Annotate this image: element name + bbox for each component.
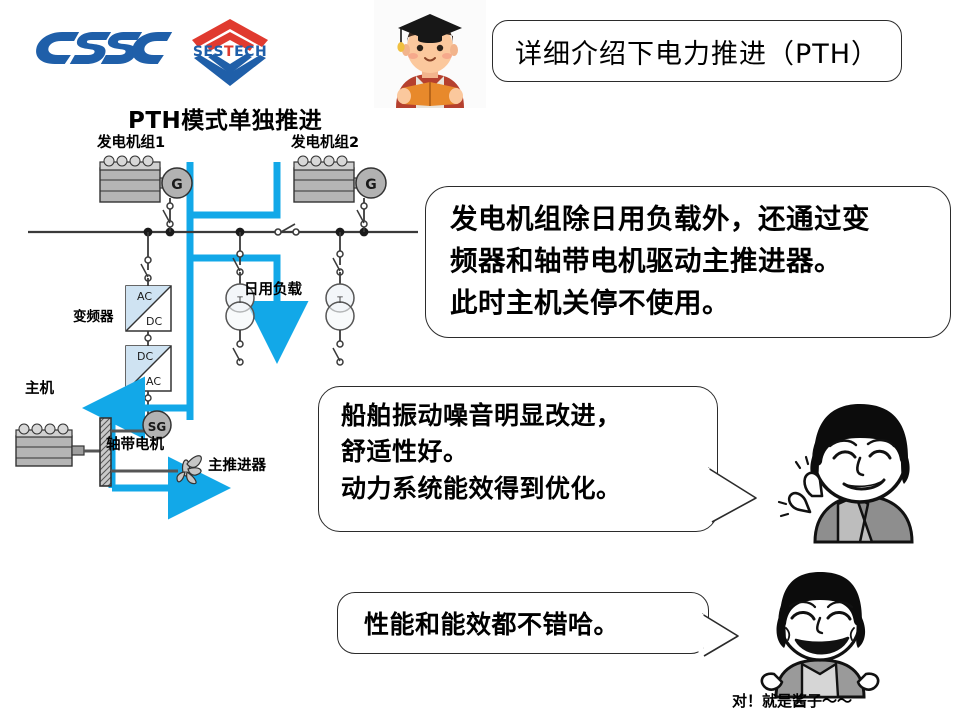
label-genset-2: 发电机组2 [291,136,359,152]
cssc-logo [34,24,169,72]
benefit-line-1: 船舶振动噪音明显改进， [341,398,699,434]
svg-text:DC: DC [146,315,162,328]
label-shaft-motor: 轴带电机 [106,438,164,454]
benefit-speech-bubble: 船舶振动噪音明显改进， 舒适性好。 动力系统能效得到优化。 [318,386,718,532]
meme-caption: 对！就是酱子～～ [732,690,882,711]
svg-text:AC: AC [146,375,161,388]
description-callout-box: 发电机组除日用负载外，还通过变 频器和轴带电机驱动主推进器。 此时主机关停不使用… [425,186,951,338]
agreement-speech-bubble: 性能和能效都不错哈。 [337,592,709,654]
genset-1: G [100,156,192,232]
description-line-1: 发电机组除日用负载外，还通过变 [450,199,930,241]
svg-text:SG: SG [148,420,167,434]
benefit-line-3: 动力系统能效得到优化。 [341,471,699,507]
genset-2: G [294,156,386,232]
meme-figure-clapping [760,392,940,542]
label-genset-1: 发电机组1 [97,136,165,152]
svg-text:T: T [236,296,243,306]
svg-text:G: G [365,177,377,193]
sestech-logo: SESTECH [180,14,280,90]
svg-text:SESTECH: SESTECH [193,44,267,60]
label-main-engine: 主机 [25,382,54,398]
converter-dc-ac: DC AC [126,346,171,391]
agreement-bubble-tail [700,612,744,660]
converter-ac-dc: AC DC [126,286,171,331]
label-vfd: 变频器 [73,310,114,325]
title-callout-box: 详细介绍下电力推进（PTH） [492,20,902,82]
student-avatar-icon [374,0,486,108]
svg-text:AC: AC [137,290,152,303]
vfd-feeder: AC DC DC AC [126,232,171,416]
meme-figure-laughing [740,562,905,697]
title-callout-text: 详细介绍下电力推进（PTH） [515,32,879,71]
label-propeller: 主推进器 [208,459,266,475]
svg-text:T: T [336,296,343,306]
description-line-2: 频器和轴带电机驱动主推进器。 [450,241,930,283]
benefit-line-2: 舒适性好。 [341,434,699,470]
label-daily-load: 日用负载 [244,283,302,299]
daily-load-feeder-2: T [326,232,354,365]
svg-text:DC: DC [137,350,153,363]
benefit-bubble-tail [706,466,762,526]
svg-text:G: G [171,177,183,193]
description-line-3: 此时主机关停不使用。 [450,283,930,325]
agreement-text: 性能和能效都不错哈。 [364,605,619,641]
